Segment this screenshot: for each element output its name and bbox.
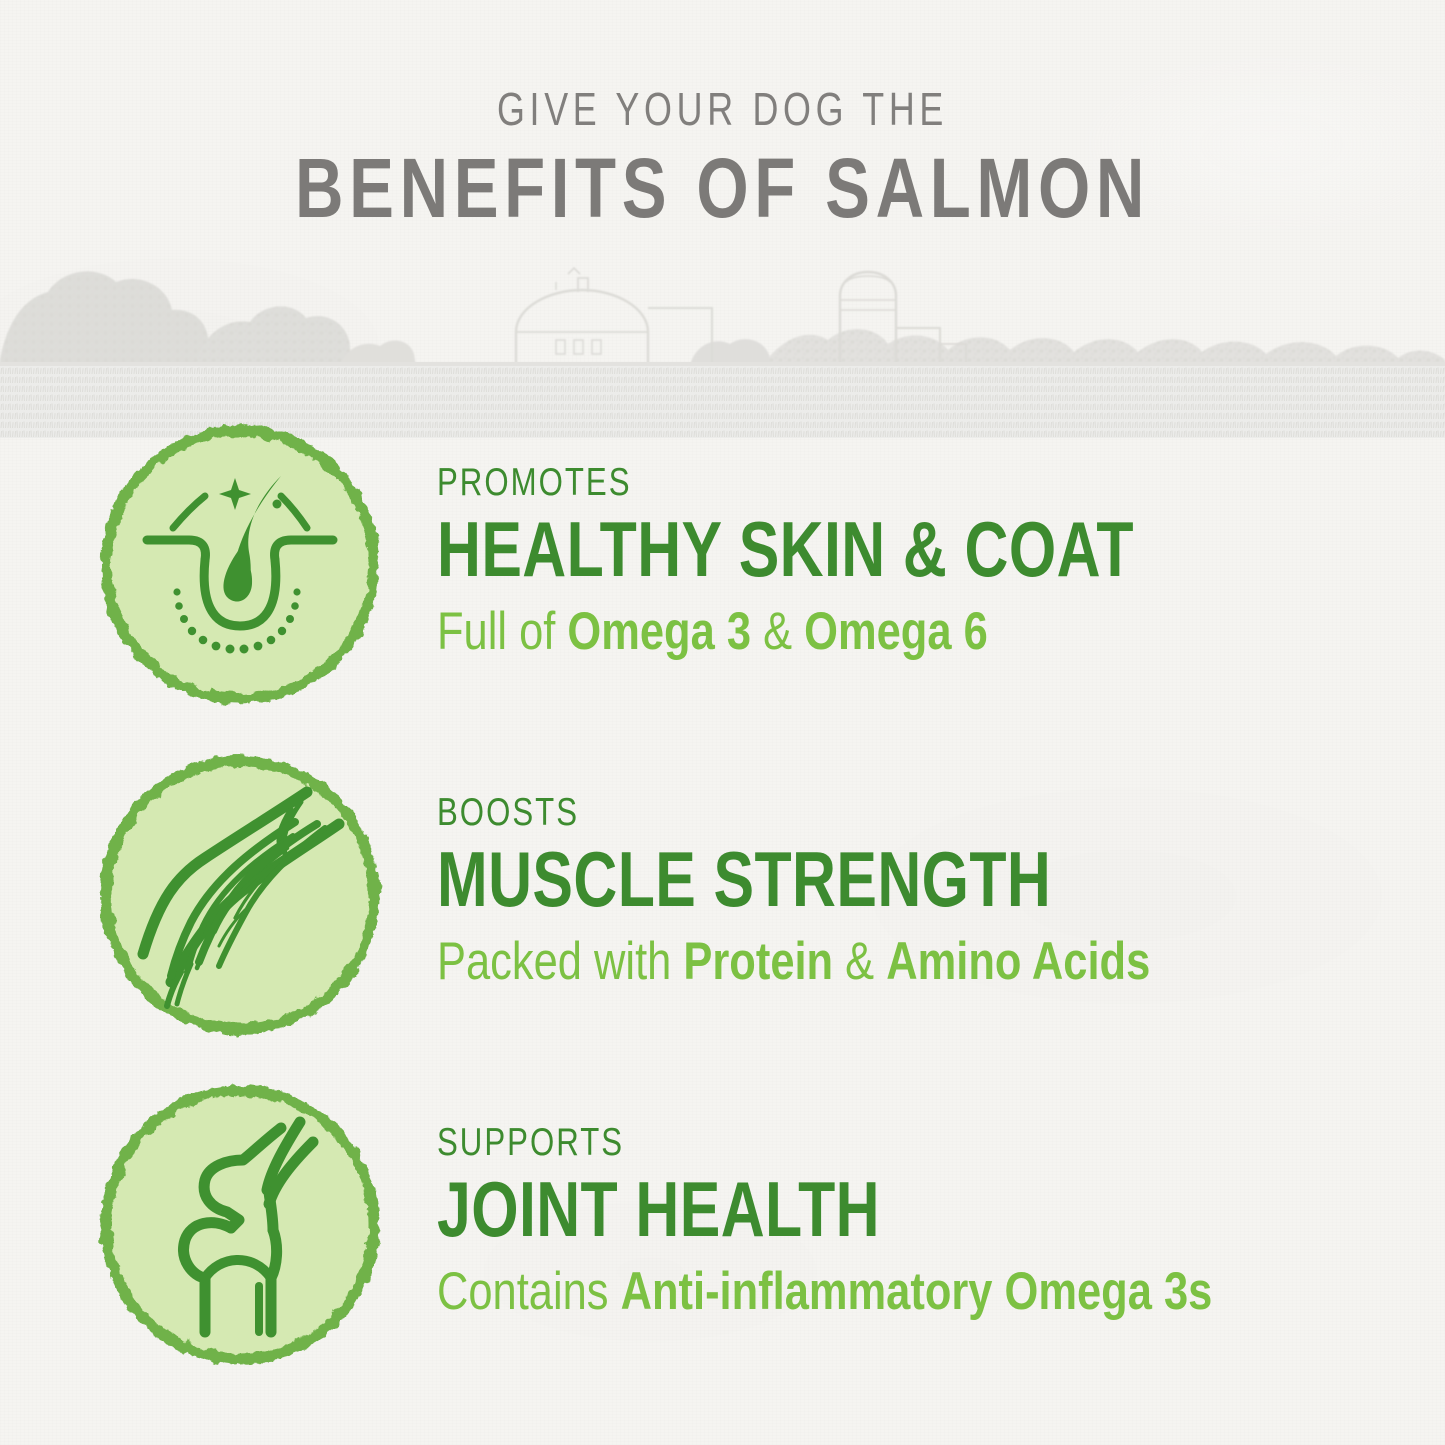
benefit-eyebrow: SUPPORTS: [437, 1123, 1243, 1164]
benefit-row: BOOSTS MUSCLE STRENGTH Packed with Prote…: [0, 730, 1445, 1060]
header-kicker: GIVE YOUR DOG THE: [159, 86, 1286, 132]
benefit-sub-strong-2: Amino Acids: [886, 932, 1150, 991]
benefit-sub-mid: &: [833, 932, 886, 991]
benefits-list: PROMOTES HEALTHY SKIN & COAT Full of Ome…: [0, 400, 1445, 1390]
benefits-poster: GIVE YOUR DOG THE BENEFITS OF SALMON: [0, 0, 1445, 1445]
silo-silhouette: [840, 272, 966, 366]
header-headline: BENEFITS OF SALMON: [145, 146, 1301, 230]
benefit-subtitle: Full of Omega 3 & Omega 6: [437, 603, 1264, 661]
poster-header: GIVE YOUR DOG THE BENEFITS OF SALMON: [0, 86, 1445, 230]
benefit-sub-strong-1: Omega 3: [567, 602, 751, 661]
benefit-sub-pre: Packed with: [437, 932, 683, 991]
benefit-row: SUPPORTS JOINT HEALTH Contains Anti-infl…: [0, 1060, 1445, 1390]
muscle-fiber-icon: [95, 750, 385, 1040]
tree-line: [0, 271, 1445, 366]
benefit-sub-pre: Contains: [437, 1262, 621, 1321]
benefit-sub-strong-2: Omega 6: [804, 602, 988, 661]
benefit-copy: PROMOTES HEALTHY SKIN & COAT Full of Ome…: [437, 463, 1445, 668]
benefit-sub-mid: &: [751, 602, 804, 661]
benefit-sub-pre: Full of: [437, 602, 567, 661]
benefit-copy: BOOSTS MUSCLE STRENGTH Packed with Prote…: [437, 793, 1445, 998]
benefit-subtitle: Packed with Protein & Amino Acids: [437, 933, 1264, 991]
benefit-eyebrow: PROMOTES: [437, 463, 1243, 504]
benefit-title: HEALTHY SKIN & COAT: [437, 506, 1223, 593]
benefit-title: MUSCLE STRENGTH: [437, 836, 1223, 923]
benefit-sub-strong-1: Anti-inflammatory Omega 3s: [621, 1262, 1213, 1321]
benefit-eyebrow: BOOSTS: [437, 793, 1243, 834]
benefit-sub-strong-1: Protein: [683, 932, 833, 991]
benefit-row: PROMOTES HEALTHY SKIN & COAT Full of Ome…: [0, 400, 1445, 730]
knee-joint-icon: [95, 1080, 385, 1370]
benefit-title: JOINT HEALTH: [437, 1166, 1223, 1253]
barn-silhouette: [516, 268, 712, 366]
benefit-copy: SUPPORTS JOINT HEALTH Contains Anti-infl…: [437, 1123, 1445, 1328]
hair-follicle-icon: [95, 420, 385, 710]
benefit-subtitle: Contains Anti-inflammatory Omega 3s: [437, 1263, 1264, 1321]
